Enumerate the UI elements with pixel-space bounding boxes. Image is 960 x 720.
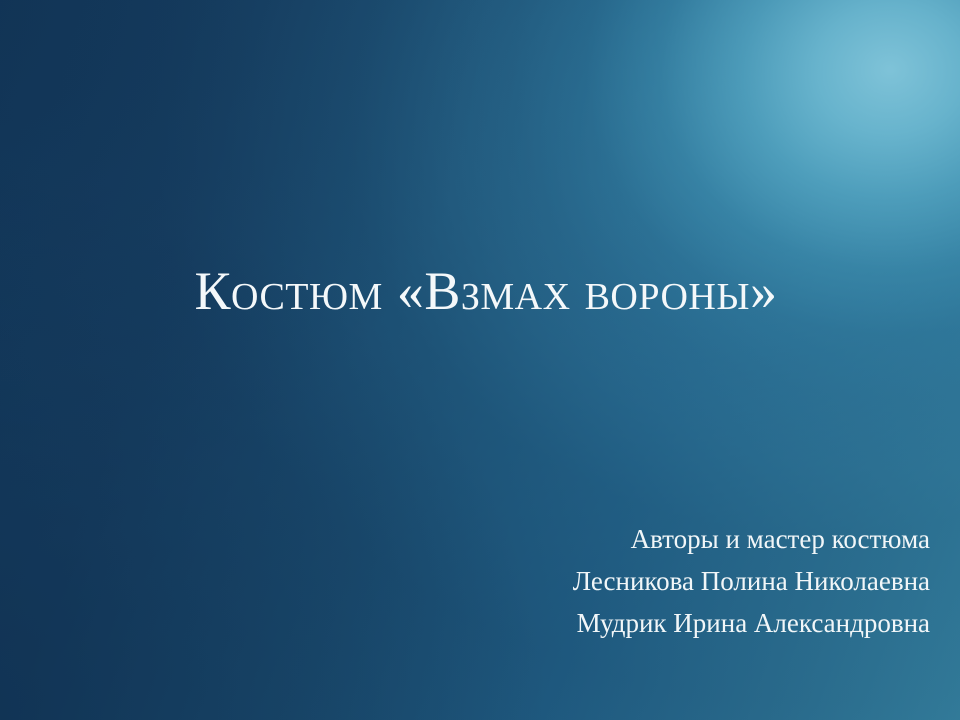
subtitle-line-authors-label: Авторы и мастер костюма <box>270 518 930 560</box>
slide-title: Костюм «Взмах вороны» <box>96 262 876 320</box>
presentation-slide: Костюм «Взмах вороны» Авторы и мастер ко… <box>0 0 960 720</box>
title-block: Костюм «Взмах вороны» <box>96 262 876 320</box>
subtitle-line-author-2: Мудрик Ирина Александровна <box>270 602 930 644</box>
subtitle-line-author-1: Лесникова Полина Николаевна <box>270 560 930 602</box>
slide-content: Костюм «Взмах вороны» Авторы и мастер ко… <box>0 0 960 720</box>
subtitle-block: Авторы и мастер костюма Лесникова Полина… <box>270 518 930 644</box>
